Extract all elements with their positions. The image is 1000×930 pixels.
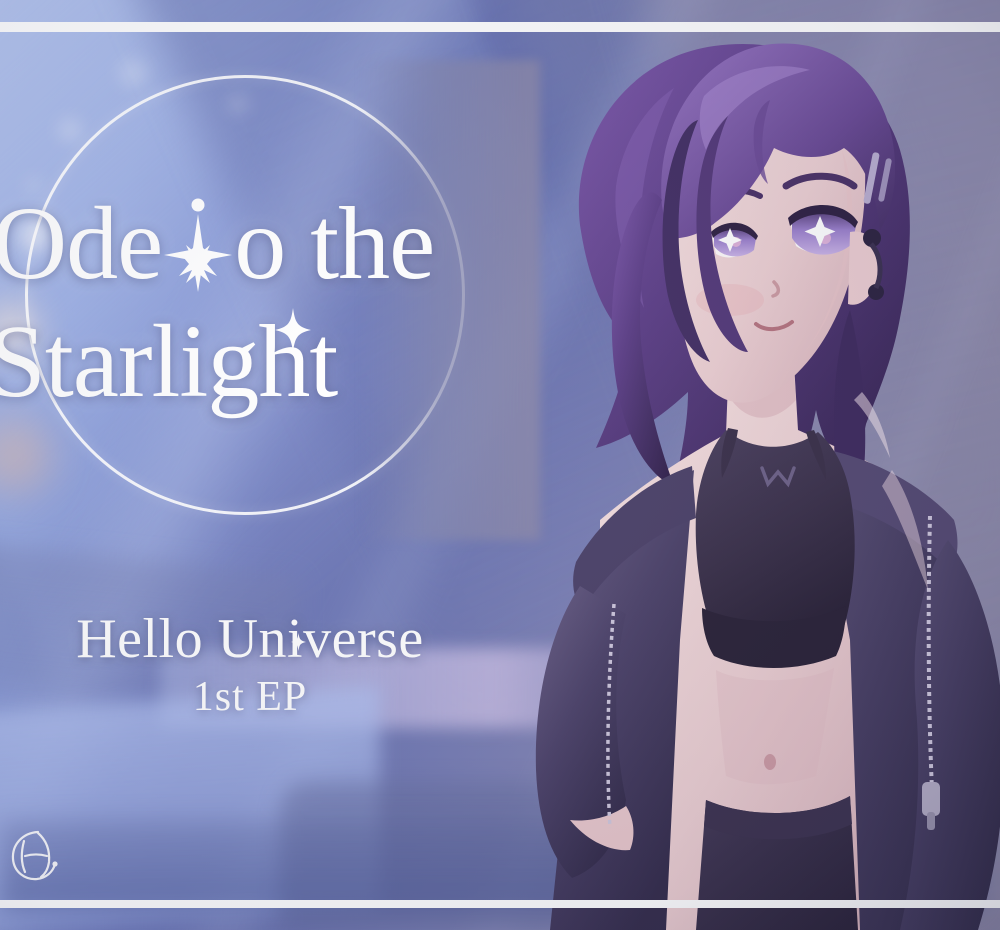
- album-key-visual: Odeo the Starlight Hello Universe 1st EP: [0, 0, 1000, 930]
- top-divider-band: [0, 22, 1000, 32]
- midriff-shadow: [716, 668, 834, 784]
- bokeh-light: [60, 120, 80, 140]
- bokeh-light: [28, 180, 40, 192]
- character-illustration: [430, 0, 1000, 930]
- eye-right: [788, 205, 858, 255]
- bottom-divider-band: [0, 900, 1000, 908]
- navel: [764, 754, 776, 770]
- bokeh-light: [18, 218, 52, 252]
- bokeh-light: [230, 96, 246, 112]
- bokeh-light: [120, 60, 146, 86]
- h-monogram-logo-icon: [8, 826, 66, 884]
